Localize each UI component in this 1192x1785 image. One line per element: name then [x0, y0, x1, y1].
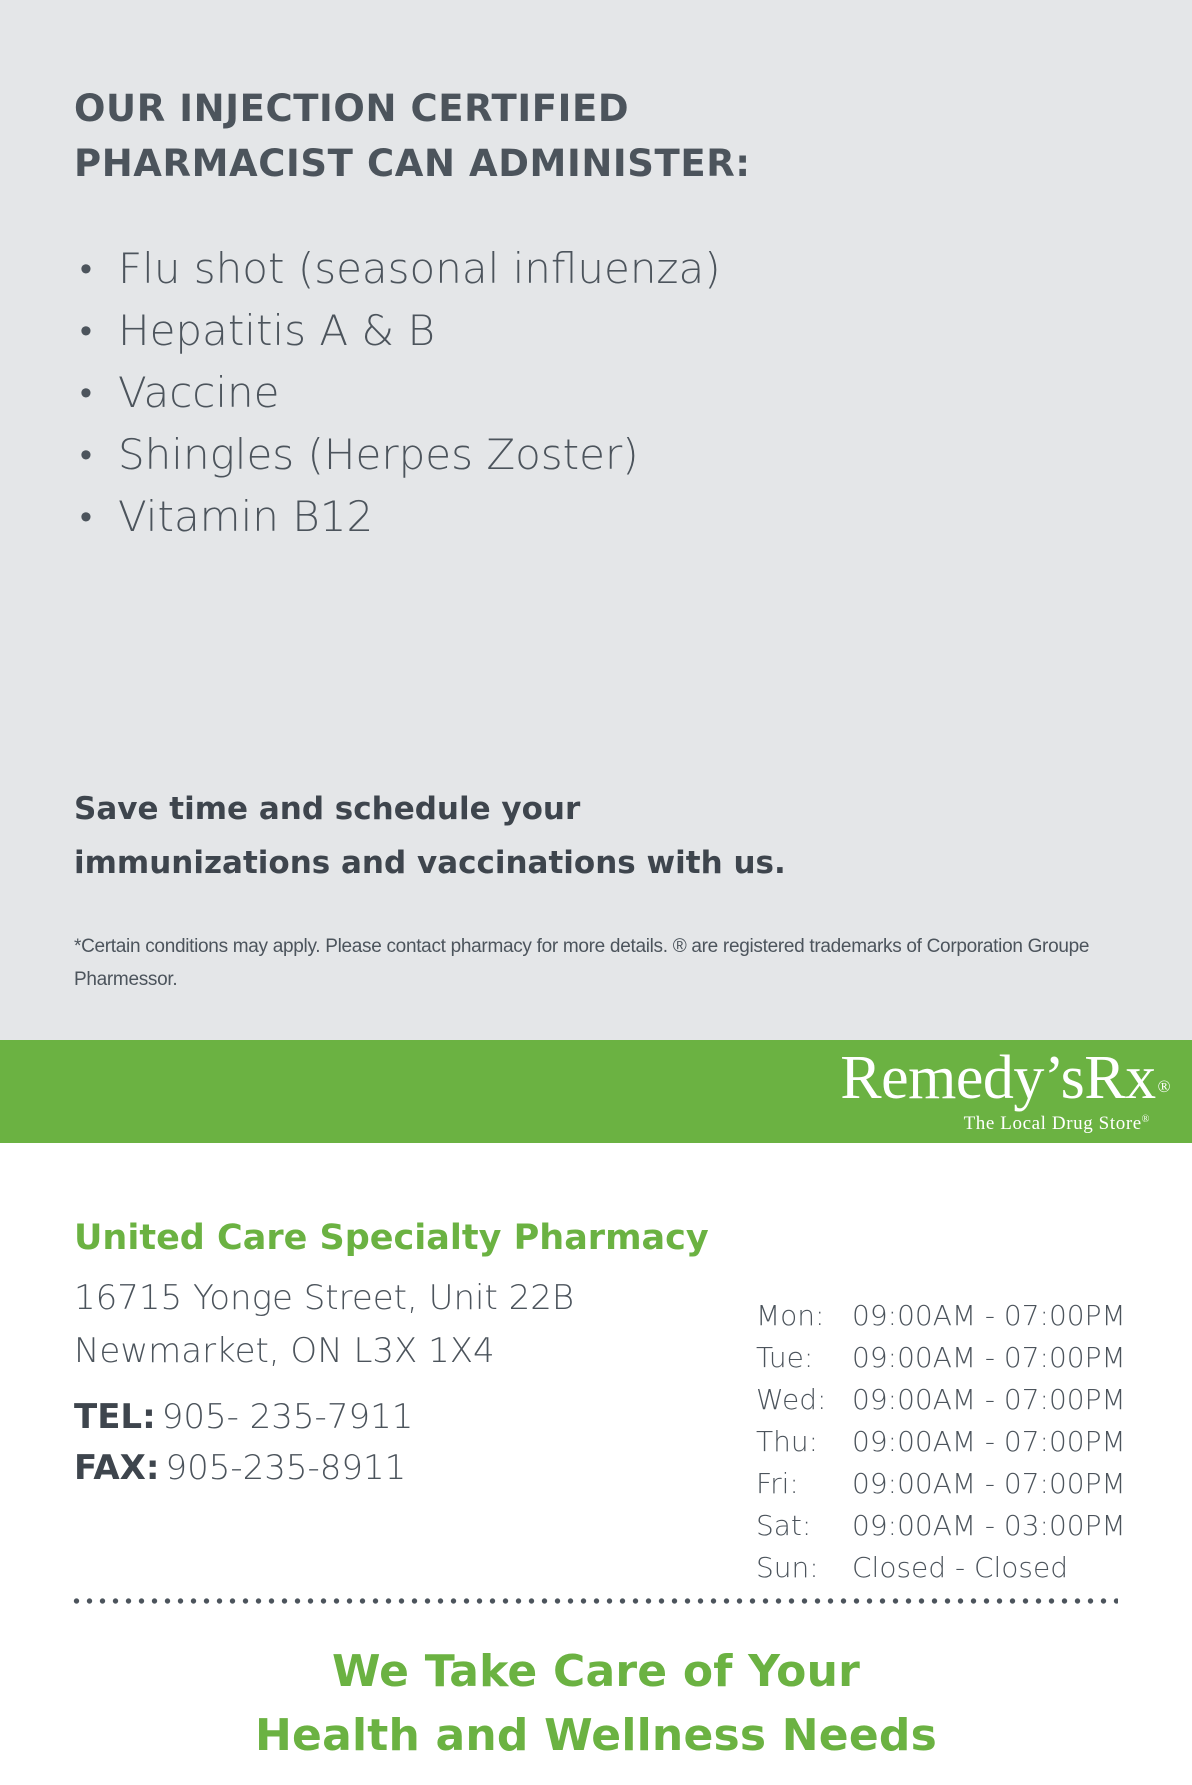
- hours-table: Mon: 09:00AM - 07:00PM Tue: 09:00AM - 07…: [756, 1295, 1126, 1589]
- call-to-action-line-1: Save time and schedule your: [74, 782, 914, 836]
- table-row: Thu: 09:00AM - 07:00PM: [756, 1421, 1126, 1463]
- list-item: Hepatitis A & B: [74, 300, 954, 362]
- list-item: Shingles (Herpes Zoster): [74, 424, 954, 486]
- registered-trademark-icon: ®: [1158, 1077, 1170, 1096]
- services-list: Flu shot (seasonal influenza) Hepatitis …: [74, 238, 954, 548]
- footer-tagline: We Take Care of Your Health and Wellness…: [0, 1640, 1192, 1768]
- logo-wordmark: Remedy’sRx®: [840, 1046, 1170, 1119]
- hours-day: Sat:: [756, 1505, 852, 1547]
- table-row: Wed: 09:00AM - 07:00PM: [756, 1379, 1126, 1421]
- page-title: OUR INJECTION CERTIFIED PHARMACIST CAN A…: [74, 82, 934, 192]
- footer-tagline-line-1: We Take Care of Your: [0, 1640, 1192, 1704]
- footer-tagline-line-2: Health and Wellness Needs: [0, 1704, 1192, 1768]
- pharmacy-flyer: OUR INJECTION CERTIFIED PHARMACIST CAN A…: [0, 0, 1192, 1785]
- service-label: Vitamin B12: [118, 492, 373, 541]
- table-row: Sat: 09:00AM - 03:00PM: [756, 1505, 1126, 1547]
- store-hours: Mon: 09:00AM - 07:00PM Tue: 09:00AM - 07…: [756, 1295, 1126, 1589]
- store-contact: TEL:905- 235-7911 FAX:905-235-8911: [74, 1392, 413, 1494]
- hours-day: Sun:: [756, 1547, 852, 1589]
- dotted-divider: [70, 1597, 1118, 1605]
- hours-day: Tue:: [756, 1337, 852, 1379]
- call-to-action-text: Save time and schedule your immunization…: [74, 782, 914, 890]
- store-address: 16715 Yonge Street, Unit 22B Newmarket, …: [74, 1272, 574, 1378]
- hours-day: Thu:: [756, 1421, 852, 1463]
- fax-row[interactable]: FAX:905-235-8911: [74, 1443, 413, 1494]
- address-line-1: 16715 Yonge Street, Unit 22B: [74, 1272, 574, 1325]
- hours-time: 09:00AM - 07:00PM: [852, 1421, 1126, 1463]
- disclaimer-text: *Certain conditions may apply. Please co…: [74, 930, 1114, 996]
- hours-time: 09:00AM - 07:00PM: [852, 1295, 1126, 1337]
- telephone-value[interactable]: 905- 235-7911: [162, 1397, 414, 1437]
- table-row: Fri: 09:00AM - 07:00PM: [756, 1463, 1126, 1505]
- service-label: Vaccine: [118, 368, 280, 417]
- list-item: Vitamin B12: [74, 486, 954, 548]
- hours-time: 09:00AM - 07:00PM: [852, 1463, 1126, 1505]
- tagline-registered-trademark-icon: ®: [1142, 1114, 1150, 1125]
- telephone-row[interactable]: TEL:905- 235-7911: [74, 1392, 413, 1443]
- fax-label: FAX:: [74, 1448, 159, 1488]
- services-panel: OUR INJECTION CERTIFIED PHARMACIST CAN A…: [0, 0, 1192, 1040]
- hours-time: Closed - Closed: [852, 1547, 1126, 1589]
- service-label: Hepatitis A & B: [118, 306, 435, 355]
- list-item: Vaccine: [74, 362, 954, 424]
- table-row: Sun: Closed - Closed: [756, 1547, 1126, 1589]
- hours-day: Fri:: [756, 1463, 852, 1505]
- remedysrx-logo: Remedy’sRx® The Local Drug Store®: [840, 1046, 1170, 1135]
- page-title-line-1: OUR INJECTION CERTIFIED: [74, 82, 934, 137]
- hours-time: 09:00AM - 07:00PM: [852, 1379, 1126, 1421]
- hours-day: Wed:: [756, 1379, 852, 1421]
- fax-value[interactable]: 905-235-8911: [165, 1448, 406, 1488]
- store-name: United Care Specialty Pharmacy: [74, 1217, 709, 1259]
- list-item: Flu shot (seasonal influenza): [74, 238, 954, 300]
- address-line-2: Newmarket, ON L3X 1X4: [74, 1325, 574, 1378]
- telephone-label: TEL:: [74, 1397, 156, 1437]
- service-label: Flu shot (seasonal influenza): [118, 244, 721, 293]
- logo-wordmark-text: Remedy’sRx: [840, 1044, 1155, 1112]
- hours-time: 09:00AM - 07:00PM: [852, 1337, 1126, 1379]
- hours-day: Mon:: [756, 1295, 852, 1337]
- service-label: Shingles (Herpes Zoster): [118, 430, 639, 479]
- table-row: Tue: 09:00AM - 07:00PM: [756, 1337, 1126, 1379]
- page-title-line-2: PHARMACIST CAN ADMINISTER:: [74, 137, 934, 192]
- call-to-action-line-2: immunizations and vaccinations with us.: [74, 836, 914, 890]
- hours-time: 09:00AM - 03:00PM: [852, 1505, 1126, 1547]
- table-row: Mon: 09:00AM - 07:00PM: [756, 1295, 1126, 1337]
- logo-tagline-text: The Local Drug Store: [964, 1113, 1142, 1134]
